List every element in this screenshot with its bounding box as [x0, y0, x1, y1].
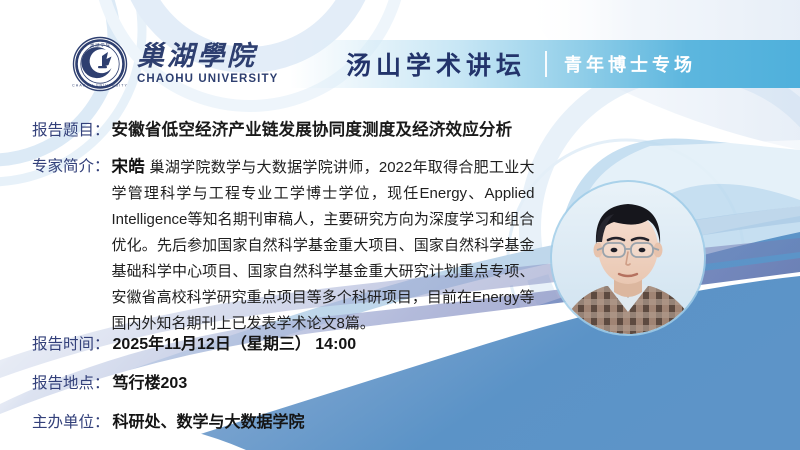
university-name-cn: 巢湖學院 [137, 42, 278, 71]
speaker-intro-label: 专家简介： [32, 154, 110, 337]
speaker-name: 宋皓 [112, 158, 146, 176]
report-title-label: 报告题目： [32, 117, 110, 144]
meta-value-location: 笃行楼203 [113, 369, 188, 393]
university-logo: 巢 湖 学 院 CHAOHU UNIVERSITY 巢湖學院 CHAOHU UN… [72, 36, 278, 92]
meta-label-time: 报告时间： [32, 331, 110, 358]
report-title-value: 安徽省低空经济产业链发展协同度测度及经济效应分析 [112, 116, 513, 140]
event-meta-block: 报告时间： 2025年11月12日（星期三） 14:00 报告地点： 笃行楼20… [32, 330, 356, 447]
meta-row-time: 报告时间： 2025年11月12日（星期三） 14:00 [32, 330, 356, 358]
svg-text:CHAOHU UNIVERSITY: CHAOHU UNIVERSITY [72, 83, 128, 87]
banner-separator [545, 51, 547, 77]
report-title-row: 报告题目： 安徽省低空经济产业链发展协同度测度及经济效应分析 [32, 116, 512, 144]
meta-value-time: 2025年11月12日（星期三） 14:00 [113, 330, 357, 354]
meta-label-location: 报告地点： [32, 370, 110, 397]
poster-canvas: 巢 湖 学 院 CHAOHU UNIVERSITY 巢湖學院 CHAOHU UN… [0, 0, 800, 450]
speaker-intro-text: 巢湖学院数学与大数据学院讲师，2022年取得合肥工业大学管理科学与工程专业工学博… [112, 159, 535, 332]
poster-header: 巢 湖 学 院 CHAOHU UNIVERSITY 巢湖學院 CHAOHU UN… [0, 0, 800, 108]
meta-value-organizer: 科研处、数学与大数据学院 [113, 408, 305, 432]
banner-main-title: 汤山学术讲坛 [346, 46, 526, 82]
banner-subtitle: 青年博士专场 [564, 51, 696, 77]
meta-row-location: 报告地点： 笃行楼203 [32, 369, 356, 397]
event-banner: 汤山学术讲坛 青年博士专场 [290, 40, 800, 88]
speaker-intro-row: 专家简介： 宋皓 巢湖学院数学与大数据学院讲师，2022年取得合肥工业大学管理科… [32, 154, 552, 337]
svg-text:巢 湖 学 院: 巢 湖 学 院 [90, 42, 111, 49]
speaker-intro-body: 宋皓 巢湖学院数学与大数据学院讲师，2022年取得合肥工业大学管理科学与工程专业… [112, 154, 535, 337]
university-seal-icon: 巢 湖 学 院 CHAOHU UNIVERSITY [72, 36, 128, 92]
meta-label-organizer: 主办单位： [32, 409, 110, 436]
meta-row-organizer: 主办单位： 科研处、数学与大数据学院 [32, 408, 356, 436]
university-name-en: CHAOHU UNIVERSITY [137, 73, 278, 86]
speaker-portrait [552, 182, 704, 334]
